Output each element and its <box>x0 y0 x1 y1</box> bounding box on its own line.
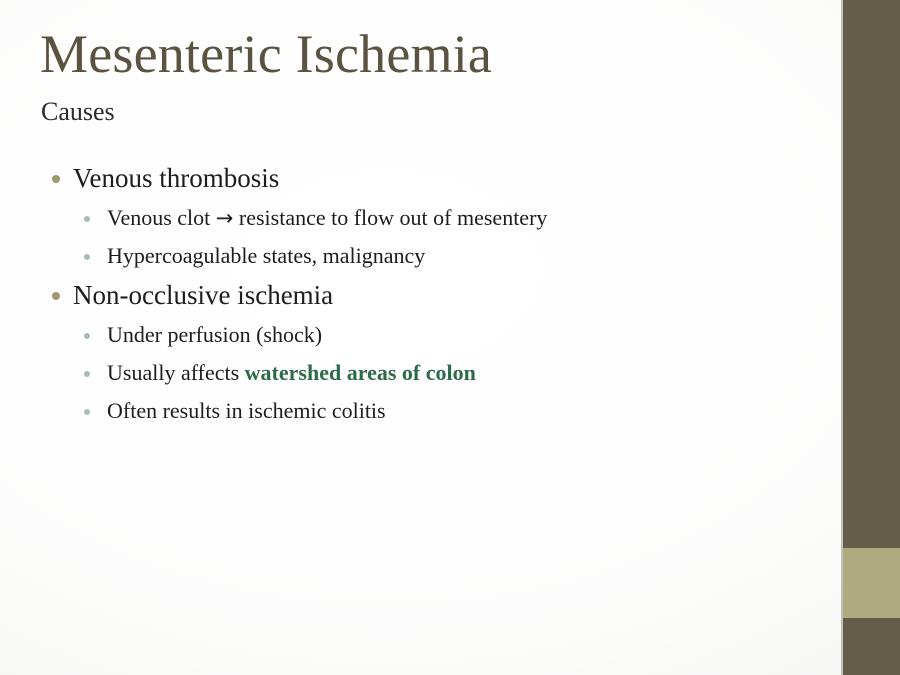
slide-title: Mesenteric Ischemia <box>40 22 492 86</box>
bullet-text: Venous clot → resistance to flow out of … <box>107 205 547 230</box>
bullet-text: Usually affects watershed areas of colon <box>107 360 476 385</box>
bullet-text: Under perfusion (shock) <box>107 322 322 347</box>
bullet-text: Non-occlusive ischemia <box>73 280 333 310</box>
sidebar-band-top <box>843 0 900 548</box>
bullet-level1: Venous thrombosis <box>0 158 800 199</box>
bullet-dot-icon <box>52 292 60 300</box>
slide-subtitle: Causes <box>41 96 115 128</box>
bullet-text: Hypercoagulable states, malignancy <box>107 243 425 268</box>
bullet-dot-icon <box>84 333 90 339</box>
slide-body-list: Venous thrombosis Venous clot → resistan… <box>0 158 800 430</box>
bullet-dot-icon <box>84 216 90 222</box>
slide: Mesenteric Ischemia Causes Venous thromb… <box>0 0 900 675</box>
bullet-text-before: Venous clot <box>107 205 216 230</box>
bullet-dot-icon <box>52 175 60 183</box>
emphasized-phrase: watershed areas of colon <box>245 360 476 385</box>
bullet-dot-icon <box>84 254 90 260</box>
right-arrow-icon: → <box>216 206 234 230</box>
bullet-dot-icon <box>84 371 90 377</box>
bullet-text: Venous thrombosis <box>73 163 279 193</box>
sidebar-band-bottom <box>843 618 900 675</box>
bullet-level2: Under perfusion (shock) <box>0 316 800 354</box>
bullet-text-after: resistance to flow out of mesentery <box>233 205 547 230</box>
bullet-level1: Non-occlusive ischemia <box>0 275 800 316</box>
sidebar-band-accent <box>843 548 900 618</box>
bullet-level2: Usually affects watershed areas of colon <box>0 354 800 392</box>
bullet-level2: Venous clot → resistance to flow out of … <box>0 199 800 237</box>
bullet-dot-icon <box>84 409 90 415</box>
decorative-sidebar <box>843 0 900 675</box>
bullet-text-before: Usually affects <box>107 360 245 385</box>
bullet-level2: Hypercoagulable states, malignancy <box>0 237 800 275</box>
bullet-text: Often results in ischemic colitis <box>107 398 386 423</box>
bullet-level2: Often results in ischemic colitis <box>0 392 800 430</box>
